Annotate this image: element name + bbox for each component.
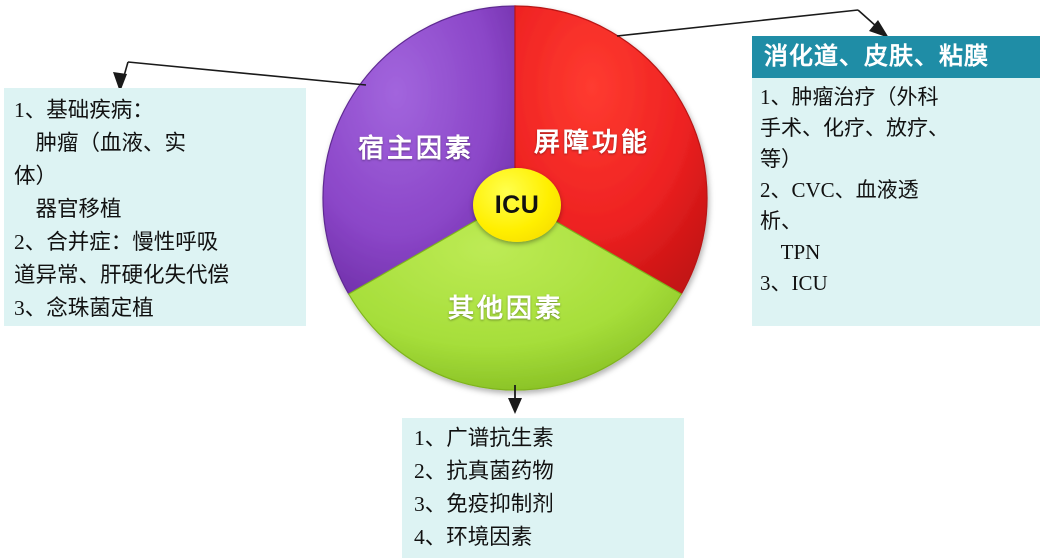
other-factors-line: 3、免疫抑制剂 (414, 488, 676, 521)
other-factors-box: 1、广谱抗生素 2、抗真菌药物 3、免疫抑制剂 4、环境因素 (402, 418, 684, 558)
host-factors-line: 1、基础疾病： (14, 94, 298, 127)
other-factors-lines: 1、广谱抗生素 2、抗真菌药物 3、免疫抑制剂 4、环境因素 (402, 418, 684, 554)
barrier-function-line: 2、CVC、血液透 (760, 175, 1034, 206)
host-factors-line: 器官移植 (14, 193, 298, 226)
other-factors-line: 4、环境因素 (414, 521, 676, 554)
barrier-function-line: 手术、化疗、放疗、 (760, 113, 1034, 144)
barrier-function-lines: 1、肿瘤治疗（外科 手术、化疗、放疗、 等） 2、CVC、血液透 析、 TPN … (752, 78, 1040, 303)
barrier-function-line: TPN (760, 237, 1034, 268)
barrier-function-box: 消化道、皮肤、粘膜 1、肿瘤治疗（外科 手术、化疗、放疗、 等） 2、CVC、血… (752, 36, 1040, 326)
barrier-function-line: 3、ICU (760, 268, 1034, 299)
host-factors-line: 体） (14, 160, 298, 193)
barrier-function-line: 析、 (760, 206, 1034, 237)
host-factors-line: 3、念珠菌定植 (14, 292, 298, 325)
pie-center-label: ICU (495, 191, 540, 220)
host-factors-box: 1、基础疾病： 肿瘤（血液、实 体） 器官移植 2、合并症：慢性呼吸 道异常、肝… (4, 88, 306, 326)
pie-center-icu-badge[interactable]: ICU (473, 168, 561, 242)
host-factors-line: 2、合并症：慢性呼吸 (14, 226, 298, 259)
barrier-function-header: 消化道、皮肤、粘膜 (752, 36, 1040, 78)
other-factors-line: 2、抗真菌药物 (414, 455, 676, 488)
other-factors-line: 1、广谱抗生素 (414, 422, 676, 455)
host-factors-line: 肿瘤（血液、实 (14, 127, 298, 160)
barrier-function-line: 1、肿瘤治疗（外科 (760, 82, 1034, 113)
host-factors-lines: 1、基础疾病： 肿瘤（血液、实 体） 器官移植 2、合并症：慢性呼吸 道异常、肝… (4, 88, 306, 331)
barrier-function-line: 等） (760, 144, 1034, 175)
host-factors-line: 道异常、肝硬化失代偿 (14, 259, 298, 292)
